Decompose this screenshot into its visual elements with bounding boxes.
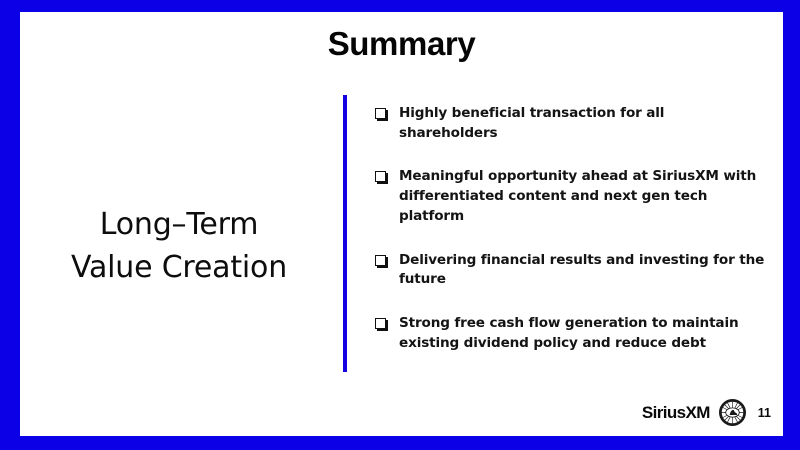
slide-frame: Summary Long–Term Value Creation Highly …	[0, 0, 800, 450]
list-item: Strong free cash flow generation to main…	[375, 314, 765, 353]
hollow-square-bullet-icon	[375, 171, 388, 184]
hollow-square-bullet-icon	[375, 108, 388, 121]
list-item-text: Meaningful opportunity ahead at SiriusXM…	[399, 167, 765, 226]
siriusxm-wordmark: SiriusXM	[642, 403, 710, 423]
slide-content-area: Summary Long–Term Value Creation Highly …	[20, 12, 783, 436]
hollow-square-bullet-icon	[375, 255, 388, 268]
hollow-square-bullet-icon	[375, 318, 388, 331]
siriusxm-dog-badge-icon	[719, 399, 746, 426]
list-item-text: Strong free cash flow generation to main…	[399, 314, 765, 353]
page-title: Summary	[20, 26, 783, 62]
bullet-list: Highly beneficial transaction for all sh…	[375, 104, 765, 353]
list-item: Meaningful opportunity ahead at SiriusXM…	[375, 167, 765, 226]
list-item-text: Highly beneficial transaction for all sh…	[399, 104, 765, 143]
vertical-divider	[343, 95, 347, 372]
page-number: 11	[758, 406, 771, 420]
slide-footer: SiriusXM 11	[642, 399, 771, 426]
list-item: Delivering financial results and investi…	[375, 251, 765, 290]
left-heading-pane: Long–Term Value Creation	[20, 132, 338, 362]
list-item: Highly beneficial transaction for all sh…	[375, 104, 765, 143]
left-heading-text: Long–Term Value Creation	[71, 204, 287, 289]
list-item-text: Delivering financial results and investi…	[399, 251, 765, 290]
